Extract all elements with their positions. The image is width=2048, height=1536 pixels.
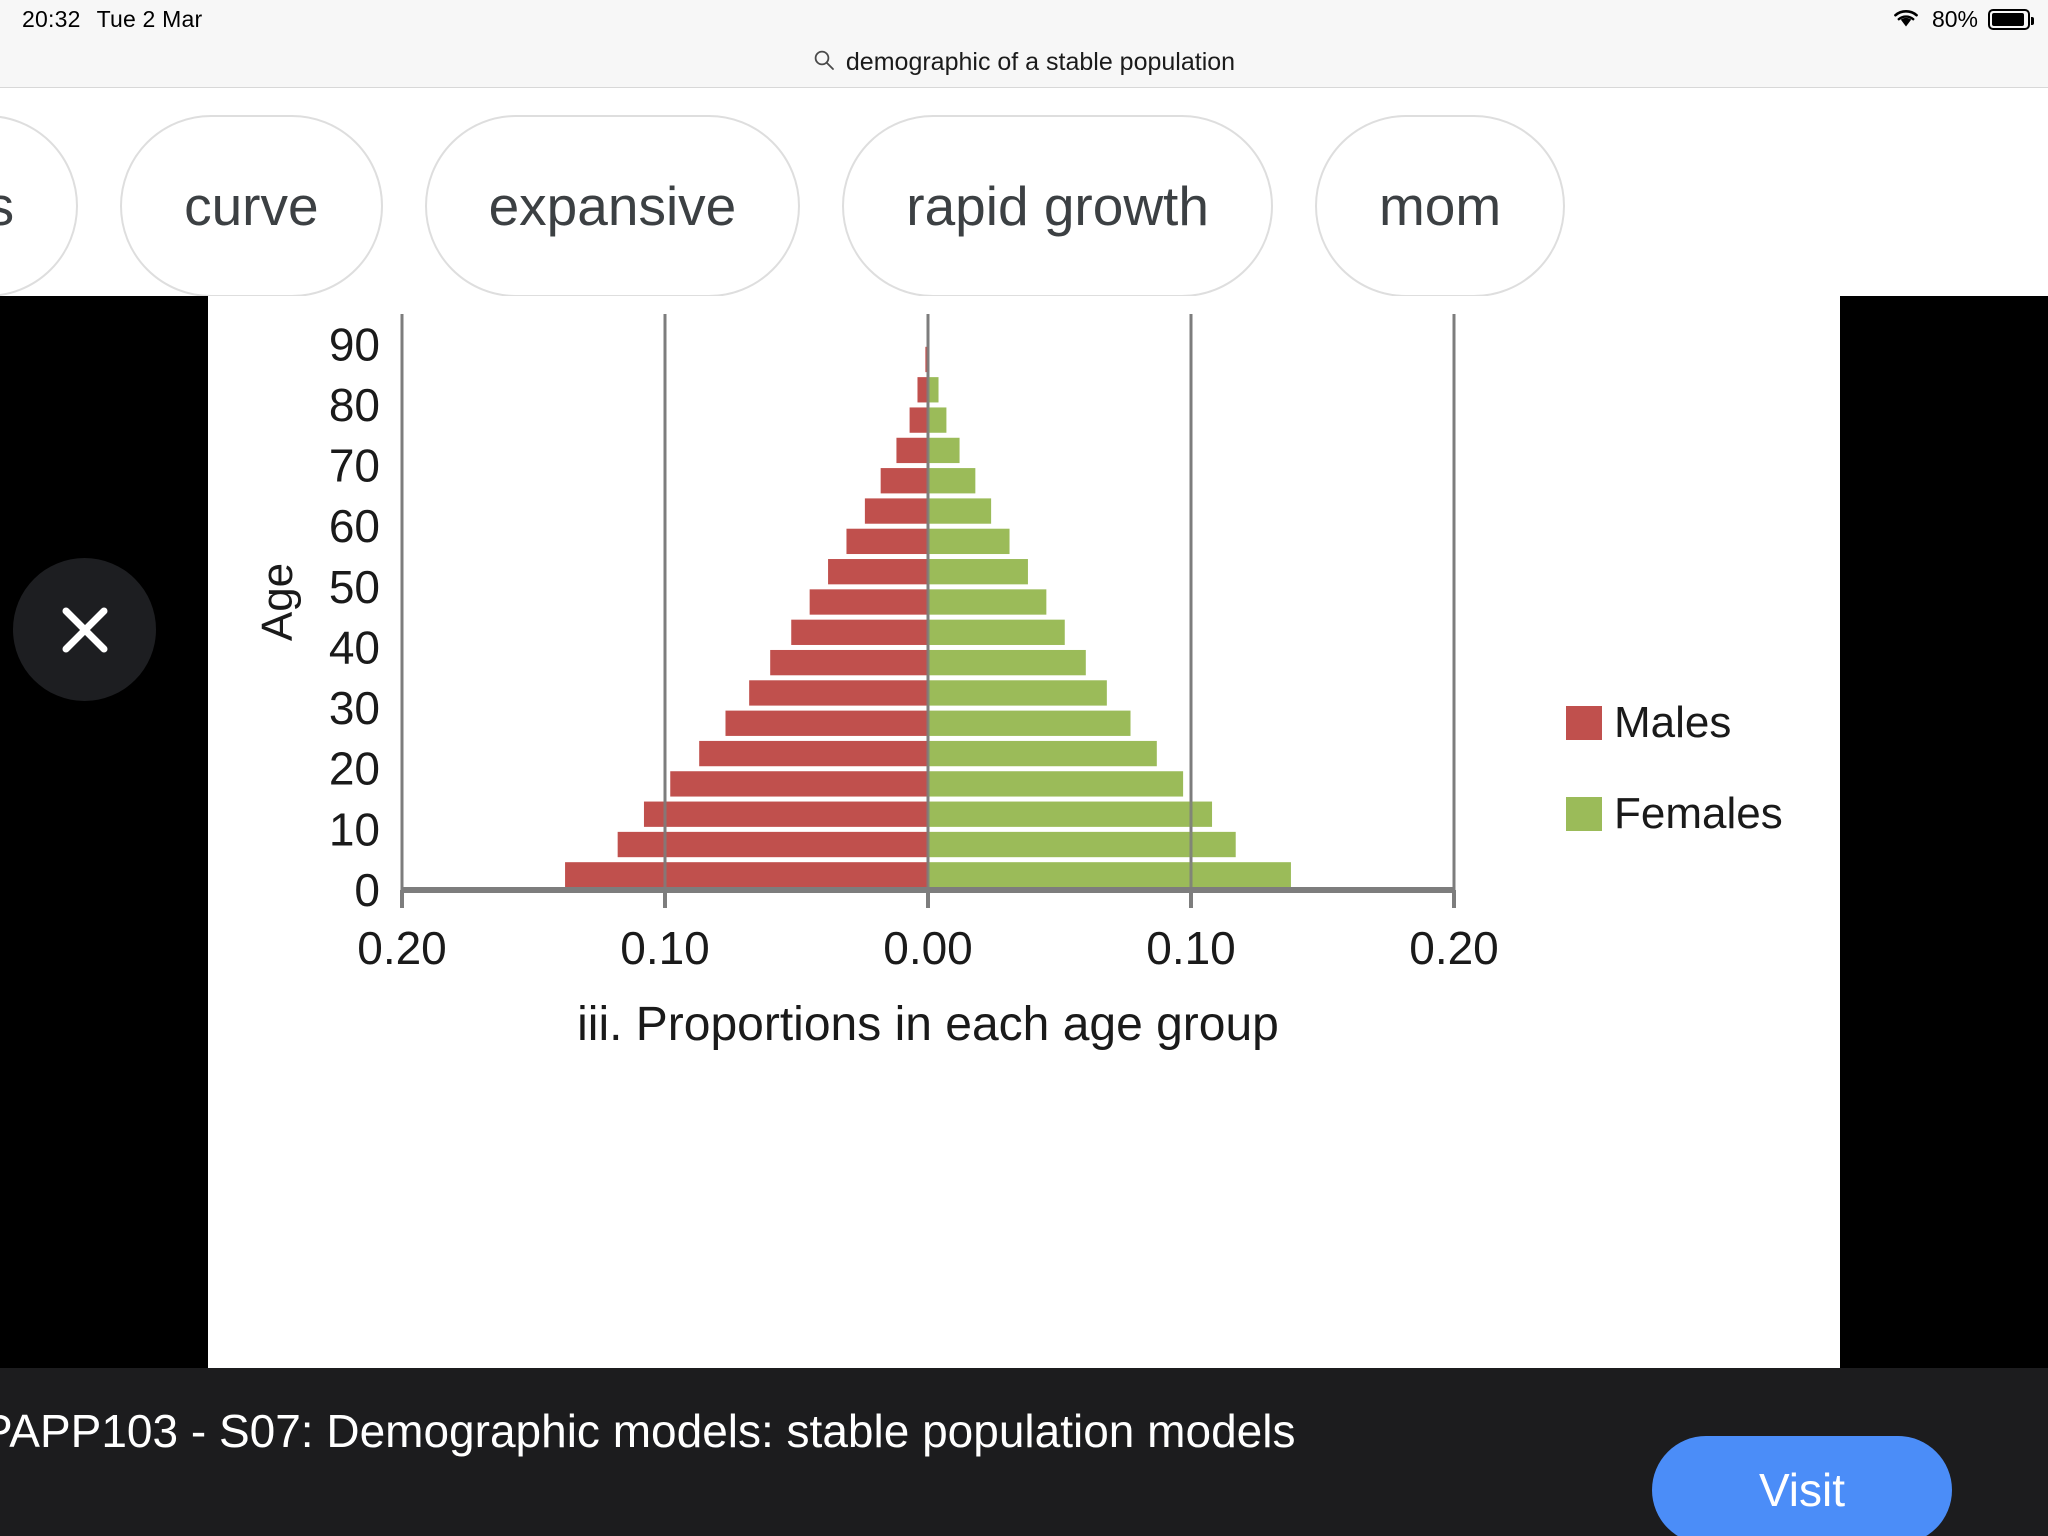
legend-item-females: Females (1566, 789, 1783, 839)
chart-legend: Males Females (1566, 698, 1783, 839)
screen-root: 20:32 Tue 2 Mar 80% (0, 0, 2048, 1536)
svg-text:0.10: 0.10 (620, 922, 710, 974)
wifi-icon (1890, 5, 1922, 34)
svg-text:90: 90 (329, 318, 380, 370)
chip-label: es (0, 174, 14, 238)
svg-text:40: 40 (329, 621, 380, 673)
chip-label: curve (184, 174, 319, 238)
svg-text:20: 20 (329, 743, 380, 795)
chip-mom[interactable]: mom (1315, 115, 1565, 296)
battery-icon (1988, 9, 2030, 30)
legend-label: Females (1614, 789, 1783, 839)
svg-text:30: 30 (329, 682, 380, 734)
status-date: Tue 2 Mar (97, 6, 203, 33)
visit-button[interactable]: Visit (1652, 1436, 1952, 1536)
search-icon (813, 49, 835, 76)
close-icon[interactable] (13, 558, 156, 701)
chip-expansive[interactable]: expansive (425, 115, 801, 296)
chip-label: mom (1379, 174, 1501, 238)
search-bar-inner[interactable]: demographic of a stable population (813, 48, 1235, 77)
svg-text:50: 50 (329, 561, 380, 613)
suggestion-chips-track[interactable]: es curve expansive rapid growth mom (0, 111, 1565, 296)
search-bar[interactable]: demographic of a stable population (0, 38, 2048, 88)
chart-image[interactable]: 0.200.100.000.100.200102030405060708090A… (208, 296, 1840, 1368)
chip-rapid-growth[interactable]: rapid growth (842, 115, 1273, 296)
image-viewer: 0.200.100.000.100.200102030405060708090A… (0, 296, 2048, 1368)
chip-label: expansive (489, 174, 737, 238)
legend-swatch-females (1566, 797, 1602, 831)
result-title[interactable]: PAPP103 - S07: Demographic models: stabl… (0, 1404, 1295, 1458)
status-bar-left: 20:32 Tue 2 Mar (0, 6, 202, 33)
legend-label: Males (1614, 698, 1731, 748)
svg-text:0.10: 0.10 (1146, 922, 1236, 974)
chip-label: rapid growth (906, 174, 1209, 238)
suggestion-chips-row[interactable]: es curve expansive rapid growth mom (0, 89, 2048, 296)
result-bottom-bar: PAPP103 - S07: Demographic models: stabl… (0, 1368, 2048, 1536)
svg-text:0: 0 (354, 864, 380, 916)
svg-text:80: 80 (329, 379, 380, 431)
chip-curve[interactable]: curve (120, 115, 383, 296)
svg-text:10: 10 (329, 803, 380, 855)
svg-text:0.20: 0.20 (357, 922, 447, 974)
svg-text:0.00: 0.00 (883, 922, 973, 974)
search-query-text[interactable]: demographic of a stable population (846, 48, 1235, 77)
status-bar: 20:32 Tue 2 Mar 80% (0, 0, 2048, 38)
legend-item-males: Males (1566, 698, 1783, 748)
status-bar-right: 80% (1890, 0, 2030, 38)
svg-text:0.20: 0.20 (1409, 922, 1499, 974)
chip-es[interactable]: es (0, 115, 78, 296)
legend-swatch-males (1566, 706, 1602, 740)
battery-percent-label: 80% (1932, 6, 1978, 33)
svg-text:60: 60 (329, 500, 380, 552)
svg-text:Age: Age (253, 563, 302, 641)
status-time: 20:32 (22, 6, 81, 33)
svg-text:70: 70 (329, 440, 380, 492)
visit-button-label: Visit (1759, 1463, 1845, 1517)
svg-text:iii. Proportions in each age g: iii. Proportions in each age group (577, 998, 1279, 1051)
